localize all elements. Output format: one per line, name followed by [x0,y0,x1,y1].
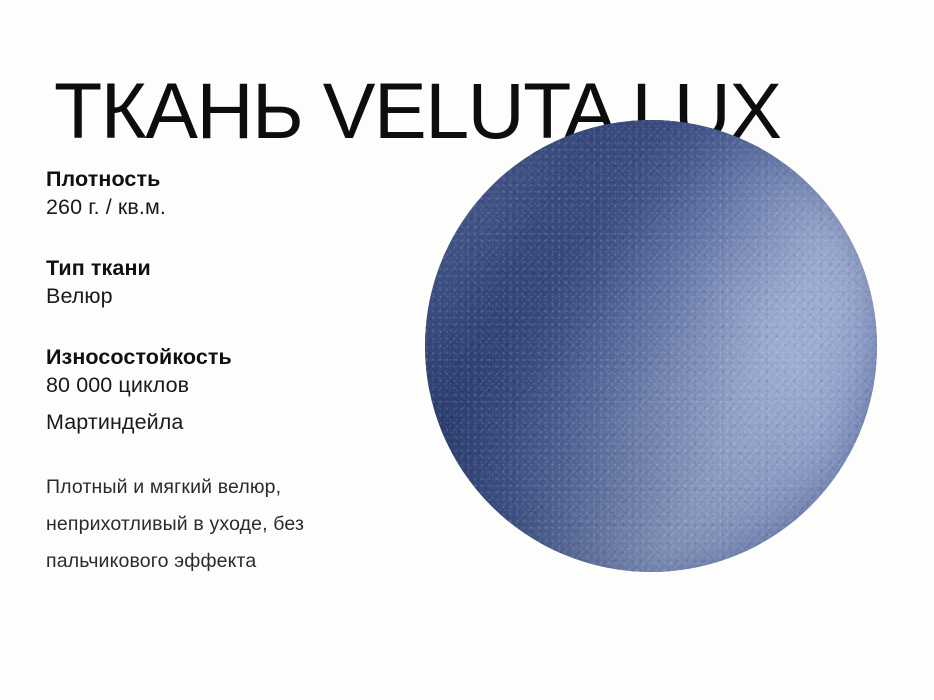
spec-item-abrasion-resistance: Износостойкость 80 000 циклов Мартиндейл… [46,344,446,436]
specs-list: Плотность 260 г. / кв.м. Тип ткани Велюр… [46,166,446,436]
fabric-swatch-circle [425,120,877,572]
spec-value-fabric-type: Велюр [46,282,446,310]
spec-label-abrasion-resistance: Износостойкость [46,344,446,371]
spec-item-density: Плотность 260 г. / кв.м. [46,166,446,221]
description-line-3: пальчикового эффекта [46,543,436,580]
description-line-2: неприхотливый в уходе, без [46,506,436,543]
spec-item-fabric-type: Тип ткани Велюр [46,255,446,310]
spec-value-abrasion-cycles: 80 000 циклов [46,371,446,399]
spec-value-abrasion-standard: Мартиндейла [46,408,446,436]
swatch-vignette [425,120,877,572]
spec-label-density: Плотность [46,166,446,193]
fabric-spec-card: ТКАНЬ VELUTA LUX Плотность 260 г. / кв.м… [0,0,934,700]
spec-value-density: 260 г. / кв.м. [46,193,446,221]
spec-label-fabric-type: Тип ткани [46,255,446,282]
description-line-1: Плотный и мягкий велюр, [46,469,436,506]
fabric-description: Плотный и мягкий велюр, неприхотливый в … [46,469,436,580]
